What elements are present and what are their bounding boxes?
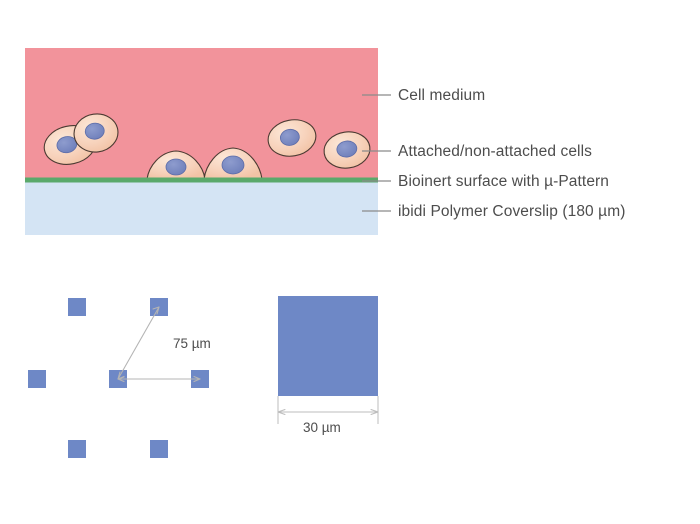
pattern-detail-square: [278, 296, 378, 396]
label-cell-medium: Cell medium: [398, 88, 485, 104]
bioinert-surface-layer: [25, 178, 378, 183]
label-bioinert-surface: Bioinert surface with µ-Pattern: [398, 174, 609, 190]
figure-svg: [0, 0, 700, 524]
label-polymer-coverslip: ibidi Polymer Coverslip (180 µm): [398, 204, 625, 220]
pattern-detail-group: [278, 296, 378, 424]
spacing-arrow-horizontal: [118, 377, 200, 382]
pattern-square-middle-left: [28, 370, 46, 388]
width-dimension-label: 30 µm: [303, 421, 341, 435]
figure-root: Cell medium Attached/non-attached cells …: [0, 0, 700, 524]
polymer-coverslip-layer: [25, 182, 378, 235]
spacing-arrow-diagonal: [118, 307, 159, 379]
pattern-square-bottom-right: [150, 440, 168, 458]
pattern-layout-group: [28, 298, 209, 458]
pattern-square-bottom-left: [68, 440, 86, 458]
label-attached-cells: Attached/non-attached cells: [398, 144, 592, 160]
spacing-label: 75 µm: [173, 337, 211, 351]
pattern-square-top-left: [68, 298, 86, 316]
cross-section-panel: [25, 48, 378, 235]
